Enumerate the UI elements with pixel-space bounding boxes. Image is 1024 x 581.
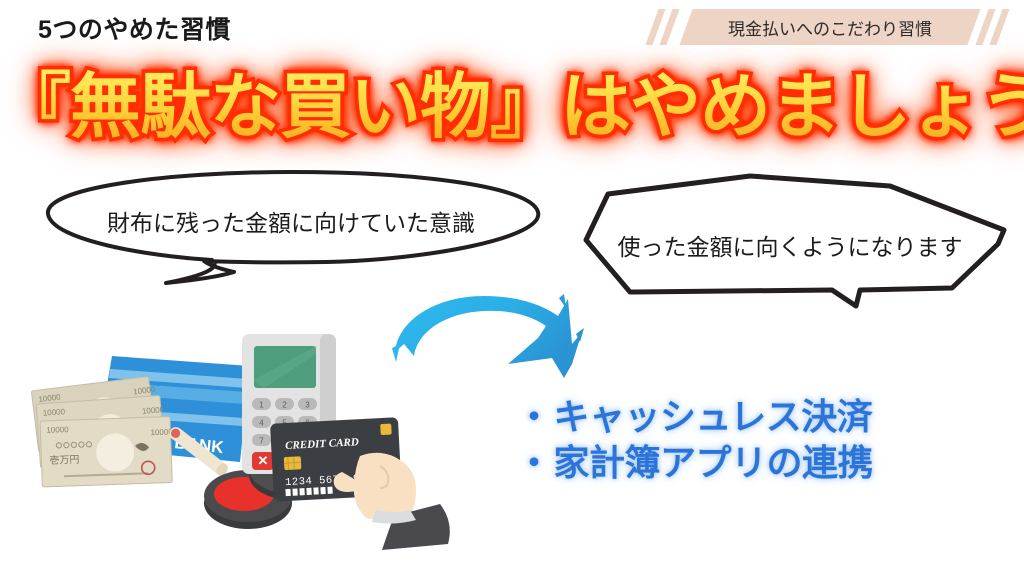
- svg-text:4: 4: [259, 419, 264, 428]
- list-item-label: キャッシュレス決済: [554, 396, 873, 437]
- speech-bubble-before: 財布に残った金額に向けていた意識: [26, 168, 556, 293]
- page-title-fill: 『無駄な買い物』はやめましょう: [0, 62, 1024, 154]
- benefit-list: ・キャッシュレス決済 ・家計簿アプリの連携: [516, 394, 936, 486]
- speech-bubble-after: 使った金額に向くようになります: [560, 170, 1020, 310]
- list-item: ・家計簿アプリの連携: [516, 440, 936, 486]
- list-item-label: 家計簿アプリの連携: [554, 442, 874, 483]
- bullet-marker: ・: [516, 442, 552, 483]
- svg-text:2: 2: [282, 401, 287, 410]
- list-item: ・キャッシュレス決済: [516, 394, 936, 440]
- svg-text:壱万円: 壱万円: [49, 453, 79, 467]
- slide-canvas: 5つのやめた習慣 現金払いへのこだわり習慣 『無駄な買い物』はやめましょう 『無…: [0, 0, 1024, 576]
- svg-text:1: 1: [259, 401, 264, 410]
- bullet-marker: ・: [516, 396, 552, 437]
- badge-label: 現金払いへのこだわり習慣: [686, 9, 974, 45]
- page-title: 『無駄な買い物』はやめましょう 『無駄な買い物』はやめましょう: [0, 62, 1024, 154]
- banknote-stack-icon: 10000 10000 壱万円 10000 10000 壱万円: [31, 376, 175, 487]
- svg-text:10000: 10000: [42, 407, 65, 418]
- speech-bubble-after-text: 使った金額に向くようになります: [580, 228, 1000, 262]
- cashless-payment-illustration: BANK 10000 10000 壱万円: [24, 320, 484, 576]
- svg-text:✕: ✕: [258, 453, 269, 468]
- svg-text:7: 7: [259, 437, 264, 446]
- illustration-graphic: BANK 10000 10000 壱万円: [24, 320, 484, 576]
- svg-text:10000: 10000: [142, 405, 165, 416]
- header-badge: 現金払いへのこだわり習慣: [650, 9, 1016, 45]
- svg-text:10000: 10000: [46, 425, 69, 435]
- speech-bubble-before-text: 財布に残った金額に向けていた意識: [26, 204, 556, 238]
- svg-text:3: 3: [305, 401, 310, 410]
- kicker-text: 5つのやめた習慣: [38, 10, 231, 46]
